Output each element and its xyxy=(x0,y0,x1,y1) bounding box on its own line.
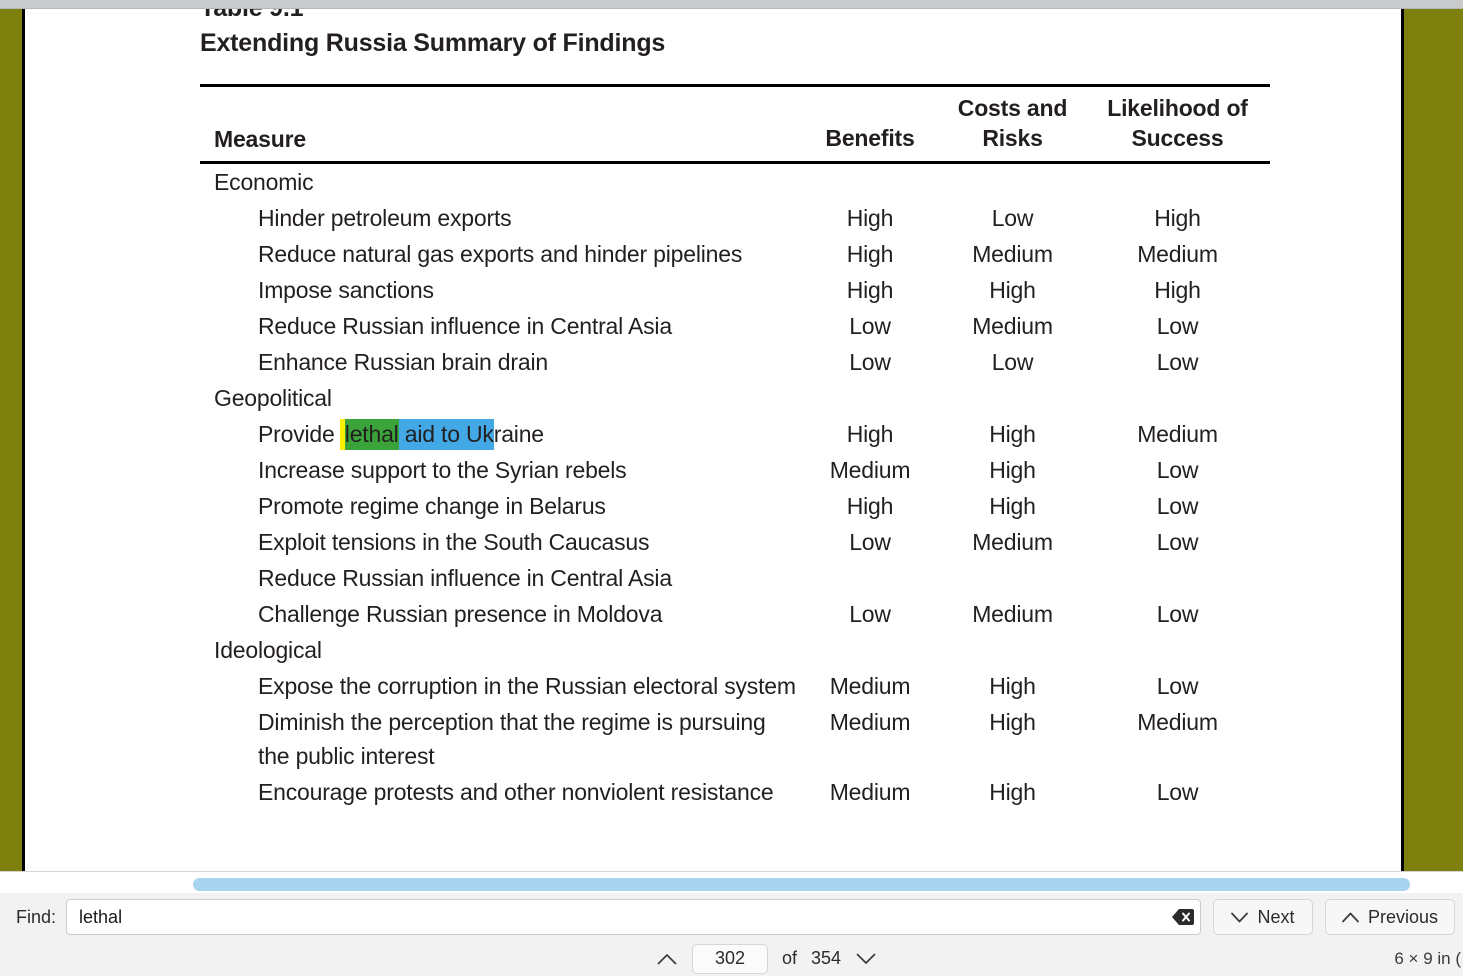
table-row: Encourage protests and other nonviolent … xyxy=(200,774,1270,810)
cell-benefits: High xyxy=(800,236,940,272)
table-caption: Table 9.1 Extending Russia Summary of Fi… xyxy=(200,9,1270,59)
column-header-benefits: Benefits xyxy=(800,87,940,163)
cell-costs-and-risks: High xyxy=(940,272,1085,308)
cell-benefits xyxy=(800,560,940,596)
cell-likelihood xyxy=(1085,164,1270,200)
measure-label: Increase support to the Syrian rebels xyxy=(200,452,800,488)
status-bar: 302 of 354 6 × 9 in ( xyxy=(0,941,1463,976)
table-row: Increase support to the Syrian rebelsMed… xyxy=(200,452,1270,488)
chevron-up-icon xyxy=(1342,912,1359,923)
cell-benefits: High xyxy=(800,272,940,308)
previous-button[interactable]: Previous xyxy=(1325,899,1455,935)
next-page-icon[interactable] xyxy=(849,946,883,972)
next-button[interactable]: Next xyxy=(1213,899,1313,935)
cell-likelihood: High xyxy=(1085,200,1270,236)
measure-label: Diminish the perception that the regime … xyxy=(200,704,800,774)
page-number-input[interactable]: 302 xyxy=(692,944,768,974)
cell-costs-and-risks: Medium xyxy=(940,236,1085,272)
page-dimensions-label: 6 × 9 in ( xyxy=(1394,949,1463,969)
total-pages-label: 354 xyxy=(811,948,841,969)
cell-benefits: High xyxy=(800,200,940,236)
likelihood-line-1: Likelihood of xyxy=(1107,95,1248,121)
table-row: Impose sanctionsHighHighHigh xyxy=(200,272,1270,308)
table-row: Provide lethal aid to UkraineHighHighMed… xyxy=(200,416,1270,452)
cell-costs-and-risks: Medium xyxy=(940,524,1085,560)
cell-benefits: Medium xyxy=(800,704,940,774)
cell-likelihood: Low xyxy=(1085,308,1270,344)
cell-likelihood: Low xyxy=(1085,774,1270,810)
costs-line-2: Risks xyxy=(982,125,1042,151)
table-group-row: Geopolitical xyxy=(200,380,1270,416)
search-input[interactable]: lethal xyxy=(66,899,1201,935)
previous-button-label: Previous xyxy=(1368,907,1438,928)
table-row: Reduce natural gas exports and hinder pi… xyxy=(200,236,1270,272)
table-row: Challenge Russian presence in MoldovaLow… xyxy=(200,596,1270,632)
measure-text: raine xyxy=(494,421,544,447)
cell-benefits: Low xyxy=(800,596,940,632)
measure-label: Exploit tensions in the South Caucasus xyxy=(200,524,800,560)
measure-label: Promote regime change in Belarus xyxy=(200,488,800,524)
cell-costs-and-risks: High xyxy=(940,774,1085,810)
cell-benefits: Medium xyxy=(800,452,940,488)
measure-label: Reduce natural gas exports and hinder pi… xyxy=(200,236,800,272)
table-row: Reduce Russian influence in Central Asia xyxy=(200,560,1270,596)
cell-benefits: High xyxy=(800,488,940,524)
measure-label: Enhance Russian brain drain xyxy=(200,344,800,380)
next-button-label: Next xyxy=(1257,907,1294,928)
column-header-measure: Measure xyxy=(200,87,800,163)
measure-label: Provide lethal aid to Ukraine xyxy=(200,416,800,452)
cell-benefits: Medium xyxy=(800,668,940,704)
previous-page-icon[interactable] xyxy=(650,946,684,972)
cell-costs-and-risks: Low xyxy=(940,200,1085,236)
cell-costs-and-risks: High xyxy=(940,704,1085,774)
find-label: Find: xyxy=(16,907,56,928)
page-navigation: 302 of 354 xyxy=(650,944,883,974)
cell-benefits xyxy=(800,380,940,416)
cell-likelihood: Low xyxy=(1085,452,1270,488)
cell-likelihood xyxy=(1085,560,1270,596)
cell-costs-and-risks: High xyxy=(940,488,1085,524)
table-row: Expose the corruption in the Russian ele… xyxy=(200,668,1270,704)
pdf-page: Table 9.1 Extending Russia Summary of Fi… xyxy=(22,9,1404,871)
table-body: EconomicHinder petroleum exportsHighLowH… xyxy=(200,164,1270,810)
table-group-row: Economic xyxy=(200,164,1270,200)
cell-costs-and-risks: Low xyxy=(940,344,1085,380)
cell-likelihood: Low xyxy=(1085,488,1270,524)
cell-costs-and-risks: Medium xyxy=(940,308,1085,344)
cell-likelihood: Medium xyxy=(1085,236,1270,272)
cell-benefits: Low xyxy=(800,344,940,380)
document-viewer[interactable]: Table 9.1 Extending Russia Summary of Fi… xyxy=(0,9,1463,871)
table-group-row: Ideological xyxy=(200,632,1270,668)
cell-likelihood: Medium xyxy=(1085,416,1270,452)
table-row: Hinder petroleum exportsHighLowHigh xyxy=(200,200,1270,236)
table-head: Measure Benefits Costs and Risks Likelih… xyxy=(200,86,1270,165)
of-label: of xyxy=(782,948,797,969)
table-number: Table 9.1 xyxy=(200,9,1270,23)
measure-label: Impose sanctions xyxy=(200,272,800,308)
measure-label: Reduce Russian influence in Central Asia xyxy=(200,308,800,344)
costs-line-1: Costs and xyxy=(958,95,1067,121)
cell-costs-and-risks: Medium xyxy=(940,596,1085,632)
cell-benefits: High xyxy=(800,416,940,452)
table-header-row: Measure Benefits Costs and Risks Likelih… xyxy=(200,87,1270,163)
search-input-value[interactable]: lethal xyxy=(67,907,1166,928)
findings-table-wrapper: Measure Benefits Costs and Risks Likelih… xyxy=(200,84,1270,810)
measure-label: Encourage protests and other nonviolent … xyxy=(200,774,800,810)
cell-benefits xyxy=(800,164,940,200)
table-row: Diminish the perception that the regime … xyxy=(200,704,1270,774)
cell-costs-and-risks: High xyxy=(940,452,1085,488)
cell-costs-and-risks xyxy=(940,164,1085,200)
measure-label: Challenge Russian presence in Moldova xyxy=(200,596,800,632)
table-title: Extending Russia Summary of Findings xyxy=(200,27,1270,59)
measure-group-label: Geopolitical xyxy=(200,380,800,416)
table-row: Enhance Russian brain drainLowLowLow xyxy=(200,344,1270,380)
cell-benefits: Medium xyxy=(800,774,940,810)
column-header-costs-and-risks: Costs and Risks xyxy=(940,87,1085,163)
cell-likelihood: Low xyxy=(1085,344,1270,380)
cell-likelihood xyxy=(1085,380,1270,416)
measure-label: Expose the corruption in the Russian ele… xyxy=(200,668,800,704)
table-row: Exploit tensions in the South CaucasusLo… xyxy=(200,524,1270,560)
column-header-likelihood-of-success: Likelihood of Success xyxy=(1085,87,1270,163)
measure-group-label: Economic xyxy=(200,164,800,200)
cell-likelihood: Low xyxy=(1085,524,1270,560)
measure-text: Provide xyxy=(258,421,341,447)
cell-benefits xyxy=(800,632,940,668)
table-row: Promote regime change in BelarusHighHigh… xyxy=(200,488,1270,524)
toolbar-strip xyxy=(0,0,1463,9)
pdf-viewer-window: Table 9.1 Extending Russia Summary of Fi… xyxy=(0,0,1463,976)
cell-benefits: Low xyxy=(800,308,940,344)
cell-likelihood: Low xyxy=(1085,596,1270,632)
likelihood-line-2: Success xyxy=(1132,125,1224,151)
cell-costs-and-risks: High xyxy=(940,668,1085,704)
table-row: Reduce Russian influence in Central Asia… xyxy=(200,308,1270,344)
search-match-highlight: lethal xyxy=(340,419,399,450)
cell-likelihood: Medium xyxy=(1085,704,1270,774)
horizontal-scrollbar-thumb[interactable] xyxy=(193,878,1410,891)
measure-label: Reduce Russian influence in Central Asia xyxy=(200,560,800,596)
cell-costs-and-risks xyxy=(940,380,1085,416)
measure-group-label: Ideological xyxy=(200,632,800,668)
cell-costs-and-risks xyxy=(940,560,1085,596)
measure-label: Hinder petroleum exports xyxy=(200,200,800,236)
findings-table: Measure Benefits Costs and Risks Likelih… xyxy=(200,84,1270,810)
cell-likelihood: Low xyxy=(1085,668,1270,704)
chevron-down-icon xyxy=(1231,912,1248,923)
cell-likelihood xyxy=(1085,632,1270,668)
cell-costs-and-risks: High xyxy=(940,416,1085,452)
clear-search-icon[interactable] xyxy=(1166,900,1200,934)
column-header-benefits-label: Benefits xyxy=(825,125,914,151)
cell-likelihood: High xyxy=(1085,272,1270,308)
cell-costs-and-risks xyxy=(940,632,1085,668)
text-selection-highlight: aid to Uk xyxy=(399,419,494,450)
find-bar: Find: lethal Next xyxy=(0,893,1463,941)
cell-benefits: Low xyxy=(800,524,940,560)
